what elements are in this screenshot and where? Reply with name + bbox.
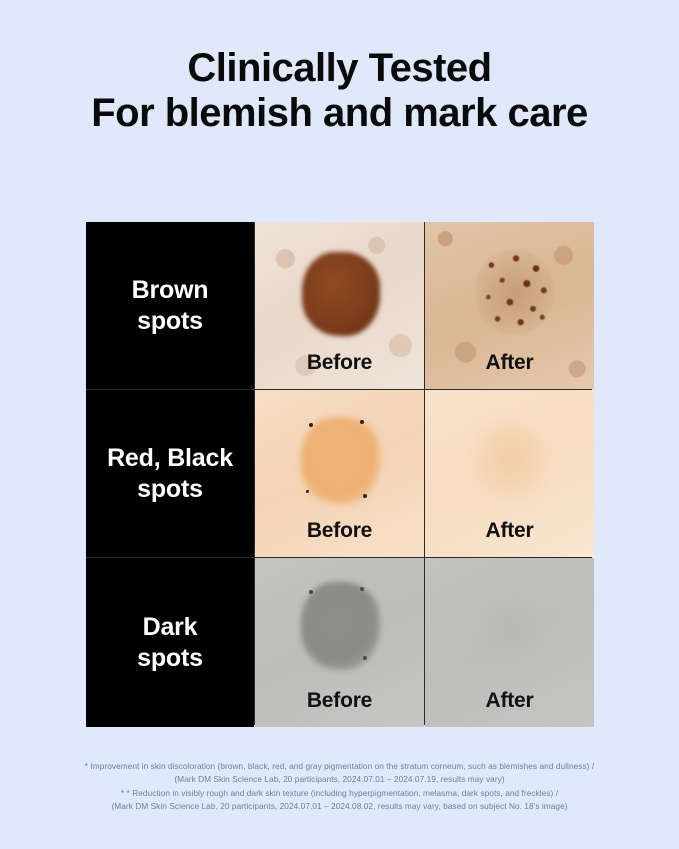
- blemish-speckles-brown-after: [476, 250, 554, 334]
- caption-red-before: Before: [255, 519, 424, 543]
- blemish-blob-red-before: [301, 417, 380, 504]
- caption-dark-before: Before: [255, 689, 424, 713]
- row-label-brown-spots-line-1: Brown: [132, 276, 209, 304]
- dark-dot-marker: [360, 587, 364, 591]
- row-label-dark-spots-line-1: Dark: [143, 613, 198, 641]
- row-label-dark-spots-text: Dark spots: [131, 612, 209, 673]
- footnote-line-4: (Mark DM Skin Science Lab, 20 participan…: [0, 800, 679, 813]
- row-label-red-black-spots: Red, Black spots: [86, 390, 254, 557]
- row-label-red-black-spots-line-2: spots: [137, 475, 203, 503]
- before-after-comparison-grid: Brown spots Before After Red, Black spot…: [86, 222, 592, 725]
- photo-dark-spots-before: Before: [255, 558, 424, 727]
- blemish-blob-red-after: [476, 423, 547, 500]
- page-title-line-2: For blemish and mark care: [0, 91, 679, 136]
- row-label-red-black-spots-line-1: Red, Black: [107, 444, 233, 472]
- row-label-brown-spots: Brown spots: [86, 222, 254, 389]
- photo-red-black-spots-before: Before: [255, 390, 424, 557]
- photo-dark-spots-after: After: [425, 558, 594, 727]
- row-label-red-black-spots-text: Red, Black spots: [101, 443, 239, 504]
- footnotes: * Improvement in skin discoloration (bro…: [0, 760, 679, 814]
- row-label-brown-spots-text: Brown spots: [126, 275, 215, 336]
- row-label-dark-spots: Dark spots: [86, 558, 254, 727]
- row-label-brown-spots-line-2: spots: [137, 307, 203, 335]
- caption-brown-after: After: [425, 351, 594, 375]
- page-title-line-1: Clinically Tested: [0, 46, 679, 91]
- row-label-dark-spots-line-2: spots: [137, 644, 203, 672]
- page-title: Clinically Tested For blemish and mark c…: [0, 46, 679, 136]
- photo-brown-spots-after: After: [425, 222, 594, 389]
- caption-dark-after: After: [425, 689, 594, 713]
- photo-brown-spots-before: Before: [255, 222, 424, 389]
- footnote-line-3: * * Reduction in visibly rough and dark …: [0, 787, 679, 800]
- dark-dot-marker: [363, 494, 367, 498]
- dark-dot-marker: [360, 420, 364, 424]
- blemish-blob-brown-before: [302, 252, 380, 336]
- footnote-line-2: (Mark DM Skin Science Lab, 20 participan…: [0, 773, 679, 786]
- dark-dot-marker: [306, 490, 309, 493]
- caption-red-after: After: [425, 519, 594, 543]
- caption-brown-before: Before: [255, 351, 424, 375]
- footnote-line-1: * Improvement in skin discoloration (bro…: [0, 760, 679, 773]
- photo-red-black-spots-after: After: [425, 390, 594, 557]
- blemish-blob-dark-after: [476, 592, 547, 666]
- blemish-blob-dark-before: [301, 582, 380, 670]
